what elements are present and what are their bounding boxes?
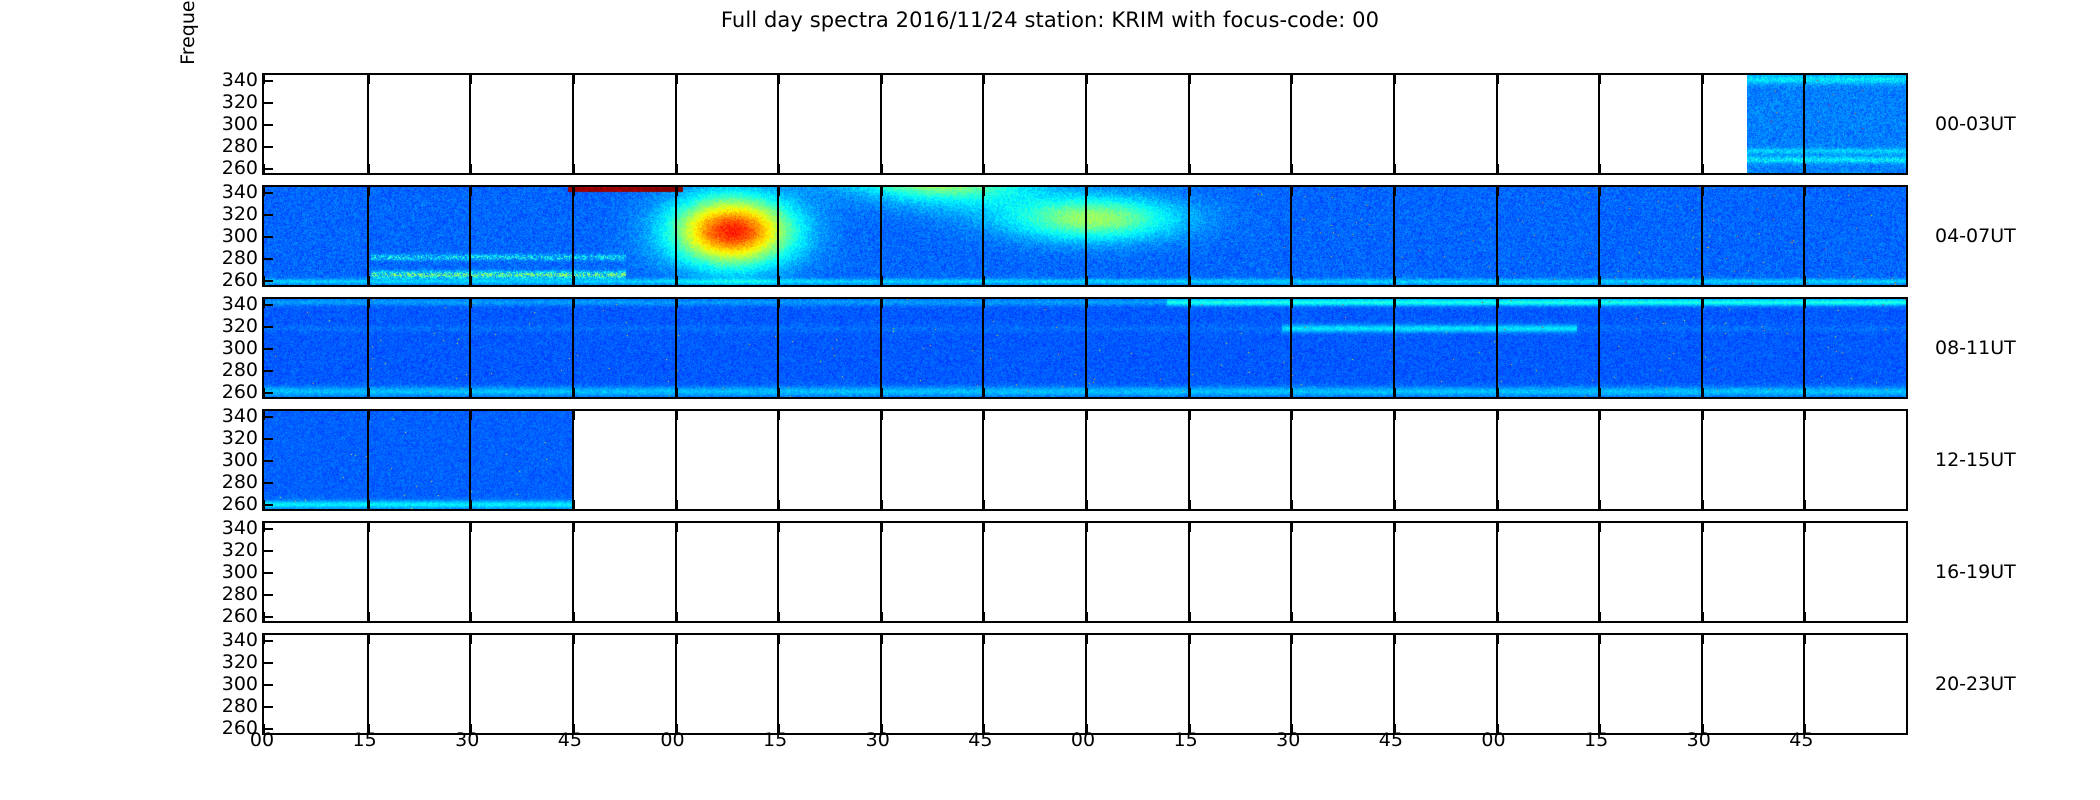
- x-tick-top: [1086, 299, 1088, 308]
- x-tick-4: [675, 299, 677, 397]
- x-tick-top: [1497, 523, 1499, 532]
- x-tick-10: [1290, 299, 1292, 397]
- x-tick-top: [1394, 635, 1396, 644]
- x-tick-bottom: [778, 276, 780, 285]
- x-tick-top: [470, 187, 472, 196]
- x-tick-bottom: [1702, 164, 1704, 173]
- x-tick-label-3: 45: [558, 729, 582, 751]
- y-tick-300: [264, 236, 273, 238]
- x-tick-bottom: [881, 276, 883, 285]
- x-tick-top: [1497, 187, 1499, 196]
- x-tick-label-10: 30: [1276, 729, 1300, 751]
- y-tick-label-320: 320: [222, 203, 258, 225]
- x-tick-3: [572, 299, 574, 397]
- x-tick-top: [676, 187, 678, 196]
- x-tick-top: [778, 75, 780, 84]
- x-tick-bottom: [1189, 388, 1191, 397]
- x-tick-8: [1085, 187, 1087, 285]
- x-tick-3: [572, 635, 574, 733]
- row-label-16-19ut: 16-19UT: [1935, 561, 2016, 583]
- spectrogram-panel-04-07ut: 340320300280260: [262, 185, 1908, 287]
- x-tick-13: [1598, 299, 1600, 397]
- x-tick-label-15: 45: [1789, 729, 1813, 751]
- x-tick-15: [1803, 75, 1805, 173]
- x-tick-bottom: [1599, 612, 1601, 621]
- x-tick-bottom: [983, 164, 985, 173]
- x-tick-top: [983, 635, 985, 644]
- x-tick-label-5: 15: [763, 729, 787, 751]
- x-tick-5: [777, 523, 779, 621]
- x-tick-3: [572, 75, 574, 173]
- y-tick-280: [264, 594, 273, 596]
- x-tick-bottom: [1702, 500, 1704, 509]
- x-tick-bottom: [1702, 388, 1704, 397]
- x-tick-bottom: [983, 388, 985, 397]
- x-tick-8: [1085, 411, 1087, 509]
- x-tick-label-12: 00: [1481, 729, 1505, 751]
- x-tick-bottom: [881, 388, 883, 397]
- x-tick-bottom: [881, 500, 883, 509]
- x-tick-2: [469, 635, 471, 733]
- x-tick-13: [1598, 187, 1600, 285]
- x-tick-2: [469, 75, 471, 173]
- x-tick-bottom: [1599, 164, 1601, 173]
- y-tick-280: [264, 482, 273, 484]
- x-tick-label-11: 45: [1379, 729, 1403, 751]
- x-tick-top: [676, 411, 678, 420]
- x-tick-14: [1701, 635, 1703, 733]
- x-tick-15: [1803, 299, 1805, 397]
- x-tick-top: [573, 411, 575, 420]
- y-axis-label: Frequency [MHz]: [177, 0, 199, 175]
- y-tick-label-280: 280: [222, 359, 258, 381]
- x-tick-bottom: [1394, 388, 1396, 397]
- page-title: Full day spectra 2016/11/24 station: KRI…: [0, 8, 2100, 32]
- spectrogram-panel-08-11ut: 340320300280260: [262, 297, 1908, 399]
- x-tick-top: [573, 523, 575, 532]
- x-tick-label-9: 15: [1174, 729, 1198, 751]
- x-tick-10: [1290, 635, 1292, 733]
- y-tick-label-320: 320: [222, 91, 258, 113]
- y-tick-label-300: 300: [222, 561, 258, 583]
- x-tick-4: [675, 635, 677, 733]
- x-tick-bottom: [881, 164, 883, 173]
- x-tick-bottom: [778, 612, 780, 621]
- x-tick-11: [1393, 75, 1395, 173]
- x-tick-label-2: 30: [455, 729, 479, 751]
- x-tick-top: [1086, 523, 1088, 532]
- x-tick-13: [1598, 635, 1600, 733]
- x-tick-2: [469, 299, 471, 397]
- x-tick-bottom: [573, 388, 575, 397]
- x-tick-5: [777, 187, 779, 285]
- y-tick-label-320: 320: [222, 539, 258, 561]
- x-axis-tick-labels: 00153045001530450015304500153045: [262, 729, 1908, 763]
- x-tick-7: [982, 75, 984, 173]
- x-tick-bottom: [1804, 164, 1806, 173]
- x-tick-top: [1086, 635, 1088, 644]
- x-tick-top: [573, 75, 575, 84]
- x-tick-2: [469, 411, 471, 509]
- spectrogram-image: [1747, 75, 1906, 173]
- x-tick-top: [778, 635, 780, 644]
- x-tick-11: [1393, 523, 1395, 621]
- x-tick-top: [1291, 75, 1293, 84]
- y-tick-label-340: 340: [222, 69, 258, 91]
- y-tick-320: [264, 662, 273, 664]
- x-tick-7: [982, 299, 984, 397]
- y-tick-label-280: 280: [222, 695, 258, 717]
- x-tick-bottom: [470, 612, 472, 621]
- x-tick-top: [1291, 635, 1293, 644]
- y-tick-label-340: 340: [222, 405, 258, 427]
- x-tick-bottom: [676, 276, 678, 285]
- x-tick-top: [983, 187, 985, 196]
- x-tick-top: [1702, 299, 1704, 308]
- x-tick-bottom: [676, 500, 678, 509]
- x-tick-top: [1394, 411, 1396, 420]
- x-tick-top: [1086, 411, 1088, 420]
- x-tick-bottom: [1804, 388, 1806, 397]
- x-tick-9: [1188, 299, 1190, 397]
- x-tick-bottom: [368, 164, 370, 173]
- x-tick-bottom: [778, 164, 780, 173]
- y-tick-260: [264, 392, 273, 394]
- x-tick-label-0: 00: [250, 729, 274, 751]
- x-tick-top: [1189, 75, 1191, 84]
- x-tick-11: [1393, 299, 1395, 397]
- x-tick-8: [1085, 635, 1087, 733]
- x-tick-14: [1701, 75, 1703, 173]
- x-tick-7: [982, 523, 984, 621]
- x-tick-top: [1599, 299, 1601, 308]
- x-tick-top: [1394, 187, 1396, 196]
- x-tick-top: [778, 411, 780, 420]
- x-tick-12: [1496, 635, 1498, 733]
- x-tick-9: [1188, 411, 1190, 509]
- y-tick-label-340: 340: [222, 293, 258, 315]
- y-tick-label-320: 320: [222, 427, 258, 449]
- x-tick-6: [880, 75, 882, 173]
- x-tick-top: [676, 635, 678, 644]
- x-tick-12: [1496, 187, 1498, 285]
- x-tick-bottom: [1086, 388, 1088, 397]
- x-tick-15: [1803, 187, 1805, 285]
- y-tick-280: [264, 370, 273, 372]
- x-tick-label-6: 30: [866, 729, 890, 751]
- x-tick-bottom: [573, 276, 575, 285]
- y-tick-label-280: 280: [222, 471, 258, 493]
- x-tick-top: [778, 523, 780, 532]
- y-tick-label-340: 340: [222, 181, 258, 203]
- x-tick-10: [1290, 411, 1292, 509]
- x-tick-top: [1702, 635, 1704, 644]
- x-tick-12: [1496, 75, 1498, 173]
- x-tick-15: [1803, 411, 1805, 509]
- y-tick-label-260: 260: [222, 381, 258, 403]
- y-tick-320: [264, 326, 273, 328]
- x-tick-top: [1804, 299, 1806, 308]
- x-tick-top: [1599, 75, 1601, 84]
- x-tick-1: [367, 75, 369, 173]
- x-tick-top: [1497, 299, 1499, 308]
- x-tick-6: [880, 523, 882, 621]
- x-tick-top: [368, 299, 370, 308]
- x-tick-14: [1701, 411, 1703, 509]
- x-tick-top: [881, 411, 883, 420]
- x-tick-top: [983, 299, 985, 308]
- x-tick-bottom: [778, 500, 780, 509]
- x-tick-12: [1496, 411, 1498, 509]
- x-tick-bottom: [1189, 164, 1191, 173]
- spectrogram-panel-00-03ut: 340320300280260: [262, 73, 1908, 175]
- x-tick-11: [1393, 411, 1395, 509]
- x-tick-top: [1189, 299, 1191, 308]
- x-tick-top: [1086, 75, 1088, 84]
- x-tick-14: [1701, 299, 1703, 397]
- x-tick-top: [1804, 635, 1806, 644]
- x-tick-14: [1701, 523, 1703, 621]
- y-tick-label-280: 280: [222, 583, 258, 605]
- x-tick-8: [1085, 523, 1087, 621]
- x-tick-bottom: [1497, 164, 1499, 173]
- x-tick-3: [572, 187, 574, 285]
- y-tick-260: [264, 280, 273, 282]
- x-tick-top: [1291, 411, 1293, 420]
- x-tick-4: [675, 411, 677, 509]
- x-tick-12: [1496, 523, 1498, 621]
- x-tick-top: [1702, 411, 1704, 420]
- x-tick-bottom: [470, 500, 472, 509]
- x-tick-bottom: [1189, 612, 1191, 621]
- x-tick-5: [777, 635, 779, 733]
- y-tick-340: [264, 192, 273, 194]
- x-tick-bottom: [573, 164, 575, 173]
- y-tick-label-320: 320: [222, 651, 258, 673]
- x-tick-6: [880, 299, 882, 397]
- x-tick-bottom: [368, 612, 370, 621]
- x-tick-13: [1598, 75, 1600, 173]
- x-tick-top: [983, 523, 985, 532]
- x-tick-9: [1188, 635, 1190, 733]
- x-tick-15: [1803, 635, 1805, 733]
- x-tick-4: [675, 75, 677, 173]
- x-tick-6: [880, 411, 882, 509]
- y-tick-label-300: 300: [222, 337, 258, 359]
- x-tick-top: [470, 635, 472, 644]
- x-tick-bottom: [1394, 612, 1396, 621]
- x-tick-5: [777, 299, 779, 397]
- x-tick-bottom: [881, 612, 883, 621]
- x-tick-bottom: [470, 276, 472, 285]
- x-tick-top: [1189, 187, 1191, 196]
- y-tick-label-300: 300: [222, 113, 258, 135]
- x-tick-top: [983, 75, 985, 84]
- x-tick-top: [1291, 187, 1293, 196]
- x-tick-11: [1393, 187, 1395, 285]
- row-label-08-11ut: 08-11UT: [1935, 337, 2016, 359]
- x-tick-top: [1702, 187, 1704, 196]
- x-tick-5: [777, 75, 779, 173]
- y-tick-label-300: 300: [222, 673, 258, 695]
- x-tick-9: [1188, 187, 1190, 285]
- x-tick-bottom: [1394, 164, 1396, 173]
- x-tick-top: [881, 635, 883, 644]
- x-tick-label-7: 45: [968, 729, 992, 751]
- x-tick-top: [368, 635, 370, 644]
- row-label-00-03ut: 00-03UT: [1935, 113, 2016, 135]
- x-tick-bottom: [1086, 500, 1088, 509]
- x-tick-top: [881, 75, 883, 84]
- x-tick-top: [470, 299, 472, 308]
- x-tick-bottom: [1291, 164, 1293, 173]
- row-label-12-15ut: 12-15UT: [1935, 449, 2016, 471]
- x-tick-1: [367, 635, 369, 733]
- y-tick-label-300: 300: [222, 449, 258, 471]
- y-tick-260: [264, 168, 273, 170]
- x-tick-top: [368, 187, 370, 196]
- y-tick-label-260: 260: [222, 605, 258, 627]
- x-tick-label-1: 15: [353, 729, 377, 751]
- x-tick-top: [1599, 411, 1601, 420]
- row-label-20-23ut: 20-23UT: [1935, 673, 2016, 695]
- x-tick-7: [982, 187, 984, 285]
- y-tick-280: [264, 146, 273, 148]
- x-tick-11: [1393, 635, 1395, 733]
- x-tick-8: [1085, 75, 1087, 173]
- x-tick-top: [676, 523, 678, 532]
- x-tick-top: [676, 299, 678, 308]
- x-tick-bottom: [1291, 388, 1293, 397]
- y-tick-label-320: 320: [222, 315, 258, 337]
- x-tick-bottom: [1291, 500, 1293, 509]
- x-tick-3: [572, 523, 574, 621]
- x-tick-bottom: [1291, 276, 1293, 285]
- x-tick-top: [1804, 187, 1806, 196]
- x-tick-7: [982, 635, 984, 733]
- y-tick-label-340: 340: [222, 517, 258, 539]
- x-tick-top: [778, 187, 780, 196]
- x-tick-top: [1291, 299, 1293, 308]
- x-tick-label-14: 30: [1687, 729, 1711, 751]
- x-tick-6: [880, 187, 882, 285]
- x-tick-bottom: [368, 500, 370, 509]
- x-tick-3: [572, 411, 574, 509]
- x-tick-bottom: [1804, 612, 1806, 621]
- x-tick-bottom: [778, 388, 780, 397]
- x-tick-bottom: [470, 164, 472, 173]
- spectrogram-panel-16-19ut: 340320300280260: [262, 521, 1908, 623]
- x-tick-top: [1804, 523, 1806, 532]
- x-tick-5: [777, 411, 779, 509]
- x-tick-bottom: [1086, 164, 1088, 173]
- x-tick-top: [368, 523, 370, 532]
- x-tick-bottom: [1189, 500, 1191, 509]
- row-label-04-07ut: 04-07UT: [1935, 225, 2016, 247]
- y-tick-label-280: 280: [222, 135, 258, 157]
- x-tick-top: [1599, 187, 1601, 196]
- y-tick-340: [264, 416, 273, 418]
- x-tick-top: [1394, 523, 1396, 532]
- x-tick-bottom: [1394, 276, 1396, 285]
- x-tick-1: [367, 299, 369, 397]
- x-tick-top: [1394, 75, 1396, 84]
- x-tick-12: [1496, 299, 1498, 397]
- x-tick-10: [1290, 187, 1292, 285]
- y-tick-300: [264, 460, 273, 462]
- x-tick-1: [367, 523, 369, 621]
- x-tick-bottom: [573, 612, 575, 621]
- x-tick-9: [1188, 523, 1190, 621]
- y-tick-300: [264, 124, 273, 126]
- x-tick-bottom: [1497, 612, 1499, 621]
- x-tick-10: [1290, 75, 1292, 173]
- x-tick-bottom: [1804, 276, 1806, 285]
- x-tick-top: [1599, 523, 1601, 532]
- x-tick-top: [1702, 75, 1704, 84]
- x-tick-bottom: [1599, 388, 1601, 397]
- spectrogram-image: [264, 411, 572, 509]
- x-tick-bottom: [983, 276, 985, 285]
- y-tick-label-260: 260: [222, 269, 258, 291]
- x-tick-top: [1804, 75, 1806, 84]
- spectrogram-panel-12-15ut: 340320300280260: [262, 409, 1908, 511]
- x-tick-1: [367, 187, 369, 285]
- x-tick-bottom: [1394, 500, 1396, 509]
- x-tick-10: [1290, 523, 1292, 621]
- y-tick-340: [264, 528, 273, 530]
- x-tick-top: [1599, 635, 1601, 644]
- x-tick-top: [1497, 411, 1499, 420]
- x-tick-bottom: [676, 164, 678, 173]
- x-tick-bottom: [573, 500, 575, 509]
- x-tick-13: [1598, 411, 1600, 509]
- x-tick-bottom: [1702, 612, 1704, 621]
- x-tick-bottom: [368, 276, 370, 285]
- x-tick-14: [1701, 187, 1703, 285]
- x-tick-bottom: [1497, 276, 1499, 285]
- y-tick-340: [264, 304, 273, 306]
- x-tick-15: [1803, 523, 1805, 621]
- x-tick-top: [676, 75, 678, 84]
- x-tick-top: [1291, 523, 1293, 532]
- y-tick-320: [264, 214, 273, 216]
- y-tick-label-260: 260: [222, 157, 258, 179]
- x-tick-top: [470, 75, 472, 84]
- x-tick-1: [367, 411, 369, 509]
- x-tick-2: [469, 187, 471, 285]
- x-tick-top: [1497, 635, 1499, 644]
- x-tick-top: [368, 411, 370, 420]
- x-tick-bottom: [1189, 276, 1191, 285]
- x-tick-bottom: [1599, 500, 1601, 509]
- y-tick-label-280: 280: [222, 247, 258, 269]
- x-tick-top: [881, 187, 883, 196]
- x-tick-bottom: [368, 388, 370, 397]
- x-tick-top: [1804, 411, 1806, 420]
- x-tick-bottom: [1804, 500, 1806, 509]
- x-tick-top: [368, 75, 370, 84]
- y-tick-320: [264, 102, 273, 104]
- x-tick-bottom: [676, 612, 678, 621]
- y-tick-label-300: 300: [222, 225, 258, 247]
- x-tick-top: [1086, 187, 1088, 196]
- x-tick-top: [1189, 411, 1191, 420]
- y-tick-280: [264, 706, 273, 708]
- x-tick-bottom: [983, 500, 985, 509]
- y-tick-300: [264, 572, 273, 574]
- x-tick-top: [1702, 523, 1704, 532]
